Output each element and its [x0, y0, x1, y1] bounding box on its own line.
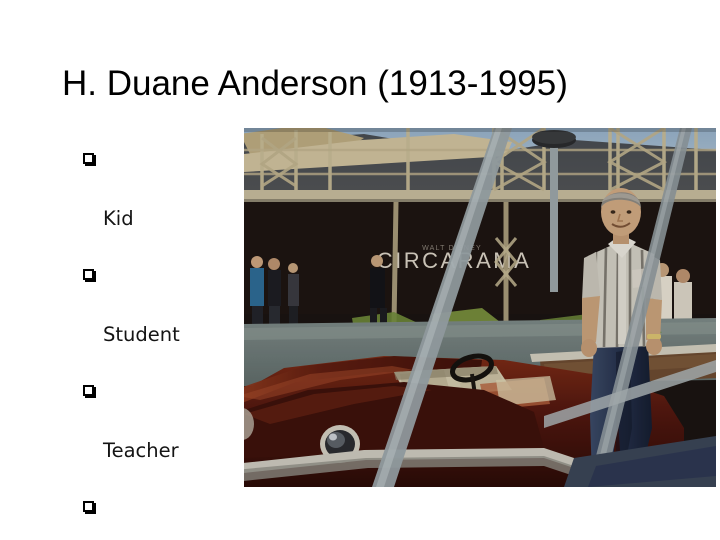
hollow-square-bullet-icon [83, 153, 94, 164]
slide-title: H. Duane Anderson (1913-1995) [62, 64, 568, 104]
bullet-item-teacher: Teacher [83, 378, 248, 494]
bullet-item-employee: Employee [83, 494, 248, 540]
hollow-square-bullet-icon [83, 385, 94, 396]
photo-duane-anderson-with-car: CIRCARAMA WALT DISNEY [244, 128, 716, 487]
bullet-label: Kid [103, 204, 248, 233]
bullet-list: Kid Student Teacher Employee Church lead… [83, 146, 248, 540]
bullet-item-student: Student [83, 262, 248, 378]
bullet-item-kid: Kid [83, 146, 248, 262]
hollow-square-bullet-icon [83, 501, 94, 512]
presentation-slide: H. Duane Anderson (1913-1995) Kid Studen… [0, 0, 720, 540]
bullet-label: Student [103, 320, 248, 349]
hollow-square-bullet-icon [83, 269, 94, 280]
bullet-label: Teacher [103, 436, 248, 465]
